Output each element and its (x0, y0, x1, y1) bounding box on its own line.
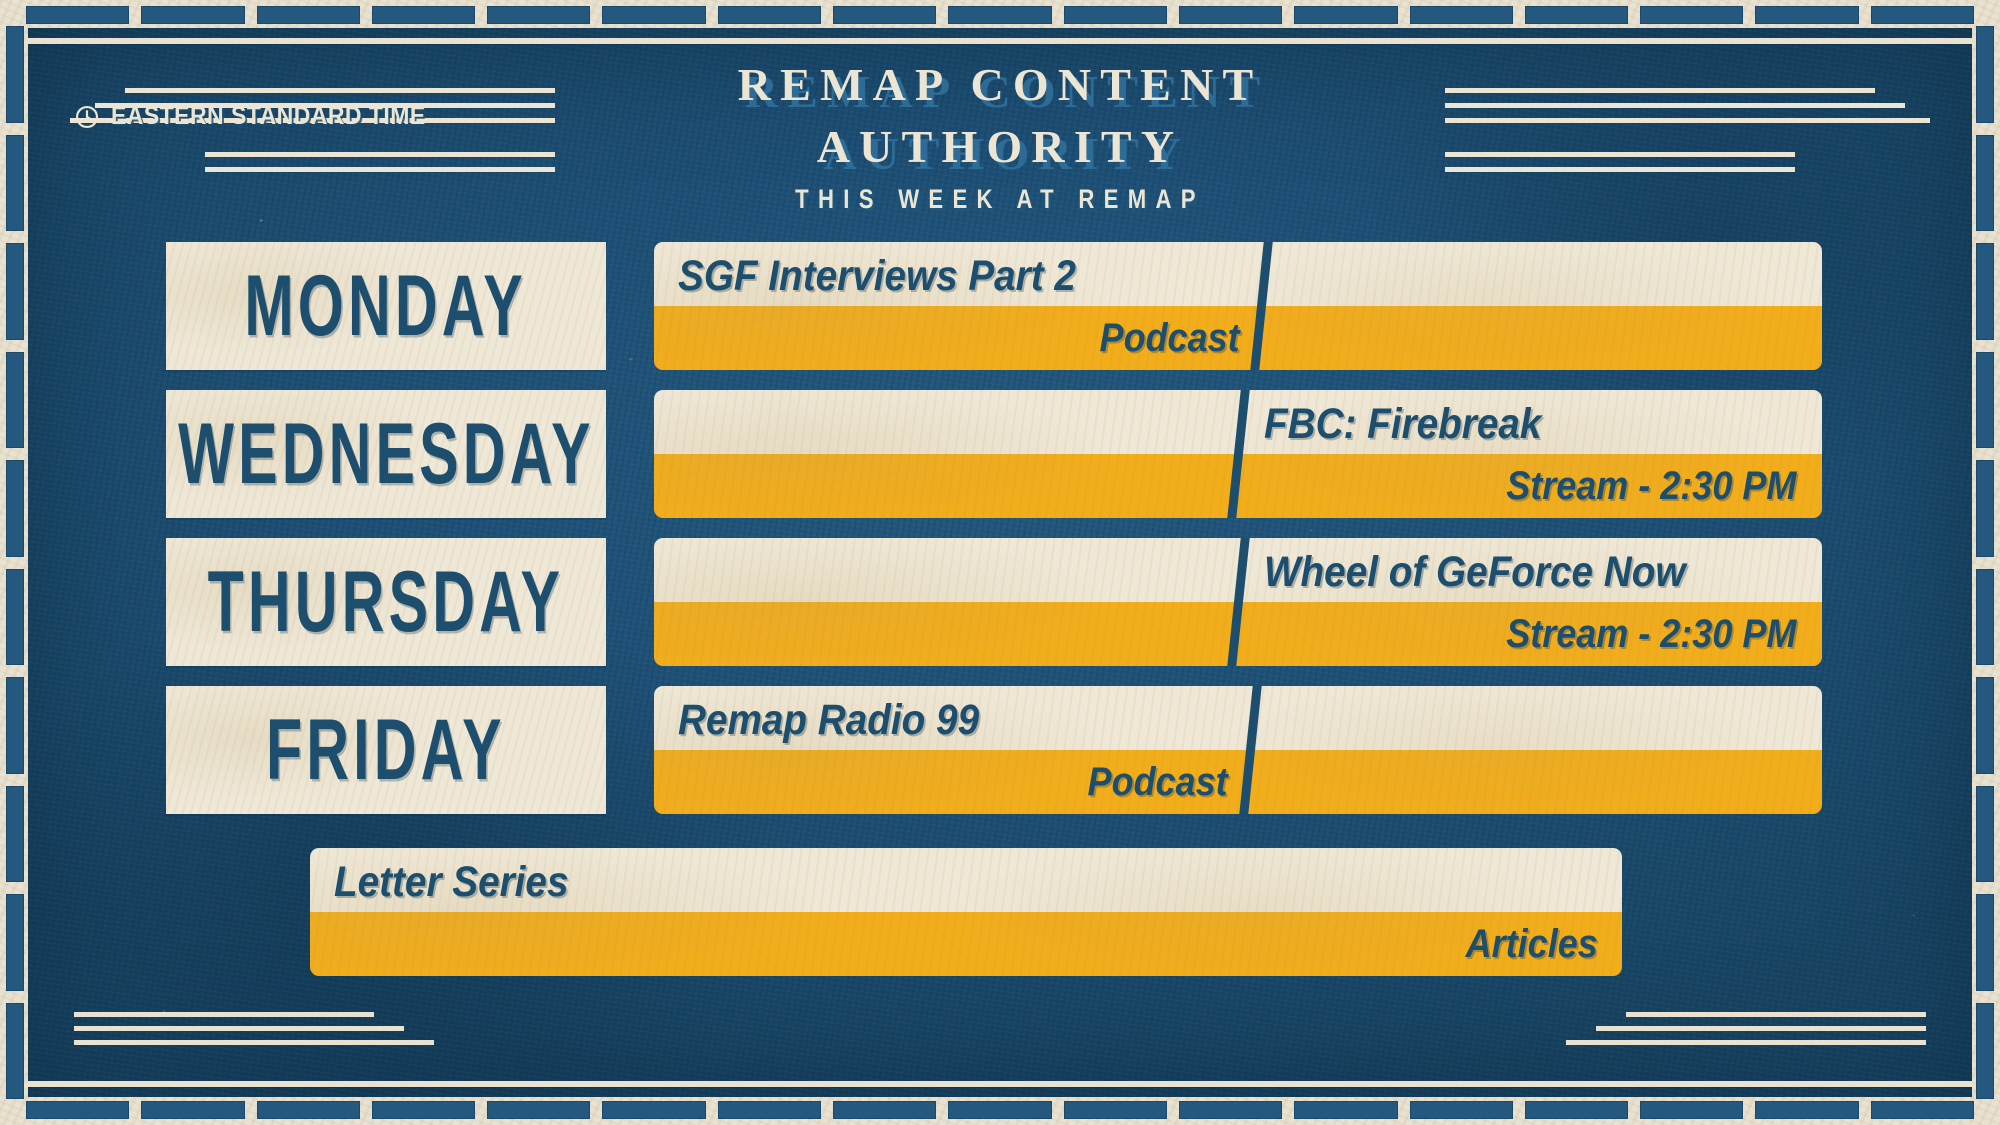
clock-icon (74, 104, 100, 130)
program-title: Wheel of GeForce Now (1264, 551, 1685, 594)
schedule-segment-wide: Letter SeriesArticles (310, 848, 1622, 976)
day-label: MONDAY (245, 263, 528, 349)
schedule-segment-right: Wheel of GeForce NowStream - 2:30 PM (1238, 538, 1822, 666)
day-plaque: WEDNESDAY (166, 390, 606, 518)
day-label: THURSDAY (208, 559, 565, 645)
program-title: FBC: Firebreak (1264, 403, 1541, 446)
timezone-label: EASTERN STANDARD TIME (111, 102, 426, 131)
poster-canvas: REMAP CONTENT AUTHORITY THIS WEEK AT REM… (0, 0, 2000, 1125)
program-bar[interactable]: FBC: FirebreakStream - 2:30 PM (654, 390, 1822, 518)
program-subtitle: Articles (1466, 924, 1598, 964)
day-label: WEDNESDAY (178, 411, 595, 497)
poster-header: REMAP CONTENT AUTHORITY THIS WEEK AT REM… (28, 62, 1972, 202)
program-subtitle: Podcast (1088, 762, 1228, 802)
timezone-badge: EASTERN STANDARD TIME (74, 102, 453, 131)
program-bar[interactable]: Wheel of GeForce NowStream - 2:30 PM (654, 538, 1822, 666)
program-bar[interactable]: Remap Radio 99Podcast (654, 686, 1822, 814)
day-label: FRIDAY (266, 707, 506, 793)
day-plaque: MONDAY (166, 242, 606, 370)
schedule-segment-left: Remap Radio 99Podcast (654, 686, 1250, 814)
day-plaque: THURSDAY (166, 538, 606, 666)
schedule-row-wide[interactable]: Letter SeriesArticles (28, 848, 1972, 976)
schedule-segment-right (1250, 686, 1822, 814)
program-title: Remap Radio 99 (678, 699, 979, 742)
schedule-segment-left (654, 538, 1238, 666)
schedule-list: MONDAYSGF Interviews Part 2PodcastWEDNES… (28, 242, 1972, 996)
inner-rule-top (28, 38, 1972, 44)
inner-rule-bottom (28, 1081, 1972, 1087)
schedule-row[interactable]: WEDNESDAYFBC: FirebreakStream - 2:30 PM (28, 390, 1972, 518)
program-subtitle: Podcast (1099, 318, 1239, 358)
schedule-row[interactable]: FRIDAYRemap Radio 99Podcast (28, 686, 1972, 814)
schedule-segment-right (1261, 242, 1822, 370)
program-title: SGF Interviews Part 2 (678, 255, 1076, 298)
page-subtitle: THIS WEEK AT REMAP (203, 184, 1797, 215)
day-plaque: FRIDAY (166, 686, 606, 814)
schedule-segment-right: FBC: FirebreakStream - 2:30 PM (1238, 390, 1822, 518)
schedule-row[interactable]: MONDAYSGF Interviews Part 2Podcast (28, 242, 1972, 370)
schedule-segment-left (654, 390, 1238, 518)
program-bar[interactable]: Letter SeriesArticles (310, 848, 1622, 976)
footer-flank-right (1566, 1003, 1926, 1045)
program-subtitle: Stream - 2:30 PM (1506, 614, 1796, 654)
footer-flank-left (74, 1003, 434, 1045)
poster-field: REMAP CONTENT AUTHORITY THIS WEEK AT REM… (28, 28, 1972, 1097)
program-title: Letter Series (334, 861, 568, 904)
schedule-segment-left: SGF Interviews Part 2Podcast (654, 242, 1261, 370)
schedule-row[interactable]: THURSDAYWheel of GeForce NowStream - 2:3… (28, 538, 1972, 666)
program-bar[interactable]: SGF Interviews Part 2Podcast (654, 242, 1822, 370)
program-subtitle: Stream - 2:30 PM (1506, 466, 1796, 506)
